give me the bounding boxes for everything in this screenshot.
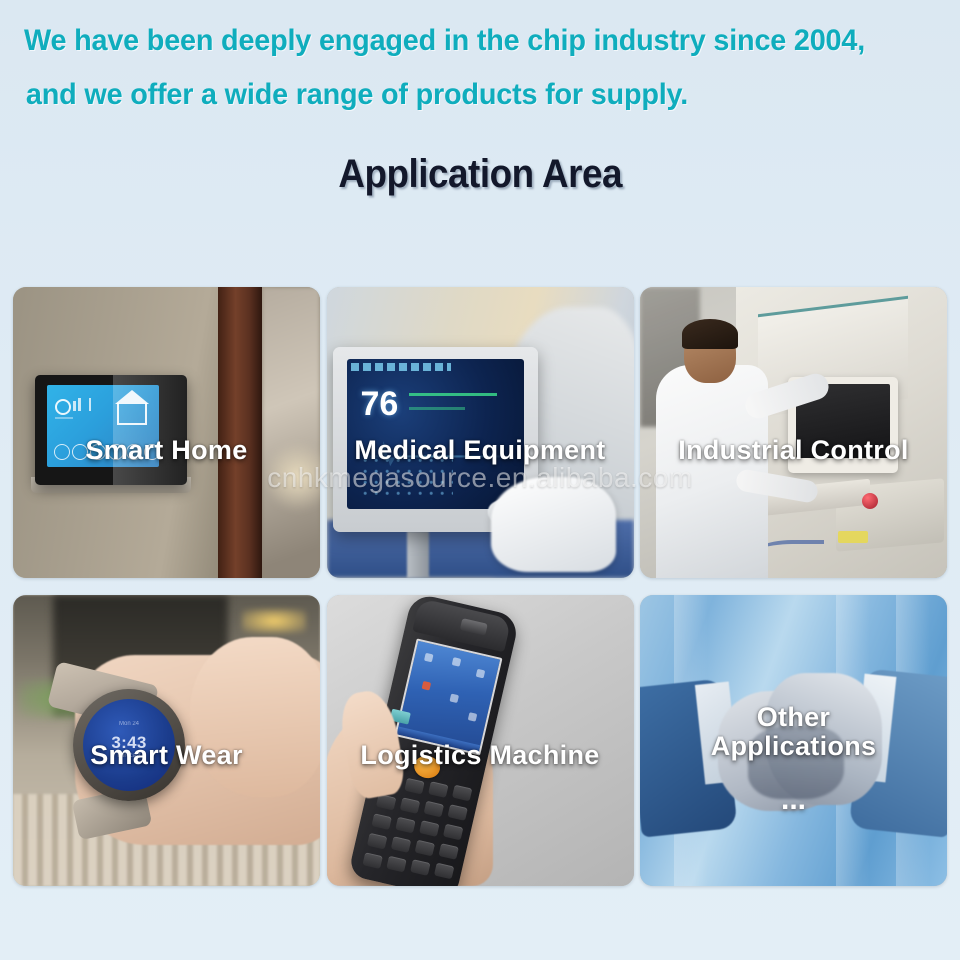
scanner-window-icon xyxy=(459,618,487,636)
keypad-key xyxy=(395,817,415,834)
technician-hair xyxy=(682,319,738,349)
keypad-key xyxy=(390,836,410,853)
smartwatch-face: Mon 24 3:43 Forecast xyxy=(83,699,175,791)
terminal-desktop-icon-4 xyxy=(421,681,431,691)
gloved-hand xyxy=(491,477,616,572)
keypad-key xyxy=(410,859,430,876)
keypad-key xyxy=(366,833,386,850)
app-icon-1 xyxy=(54,444,70,460)
keypad-key xyxy=(362,852,382,869)
hand xyxy=(190,637,320,797)
terminal-desktop-icon-6 xyxy=(467,712,477,722)
card-other-applications[interactable]: Other Applications ... xyxy=(640,595,947,886)
card-logistics-machine[interactable]: Logistics Machine xyxy=(327,595,634,886)
keypad-key xyxy=(423,801,443,818)
monitor-green-line-2 xyxy=(409,407,465,410)
app-icon-2 xyxy=(72,444,88,460)
watch-subtext: Forecast xyxy=(83,753,175,759)
terminal-screen xyxy=(394,638,502,755)
card-industrial-control[interactable]: Industrial Control xyxy=(640,287,947,578)
room-light-glow xyxy=(268,437,320,517)
keypad-key xyxy=(399,797,419,814)
application-card-grid: Smart Home 76 xyxy=(13,287,947,886)
smart-home-scene xyxy=(13,287,320,578)
card-smart-home[interactable]: Smart Home xyxy=(13,287,320,578)
monitor-top-bar xyxy=(351,363,451,371)
keypad-key xyxy=(404,778,424,795)
industrial-scene xyxy=(640,287,947,578)
keypad-key xyxy=(419,820,439,837)
keypad-key xyxy=(428,781,448,798)
background-warm-light xyxy=(242,609,306,633)
keypad-key xyxy=(386,856,406,873)
vital-value: 76 xyxy=(361,385,399,424)
watch-date: Mon 24 xyxy=(83,721,175,727)
wood-door-frame xyxy=(218,287,262,578)
widget-line-1 xyxy=(55,417,73,419)
logistics-scene xyxy=(327,595,634,886)
patient-monitor-screen: 76 xyxy=(347,359,524,509)
keypad-key xyxy=(451,785,471,802)
smartwatch-body: Mon 24 3:43 Forecast xyxy=(73,689,185,801)
keypad-key xyxy=(371,813,391,830)
terminal-desktop-icon-3 xyxy=(475,669,485,679)
terminal-desktop-icon-1 xyxy=(423,653,433,663)
widget-bar-1 xyxy=(73,401,76,411)
monitor-stand xyxy=(407,531,429,578)
smart-panel-device xyxy=(35,375,187,485)
widget-bar-2 xyxy=(78,398,81,411)
room-beyond-door xyxy=(262,287,320,578)
monitor-green-line-1 xyxy=(409,393,497,396)
terminal-desktop-icon-5 xyxy=(449,694,459,704)
section-title: Application Area xyxy=(0,152,960,197)
monitor-data-dots xyxy=(363,457,453,497)
card-label-other-dots: ... xyxy=(640,783,947,817)
card-medical-equipment[interactable]: 76 Medical Equipment xyxy=(327,287,634,578)
medical-scene: 76 xyxy=(327,287,634,578)
headline-line-1: We have been deeply engaged in the chip … xyxy=(24,14,900,68)
keypad-key xyxy=(433,863,453,880)
app-icon-3 xyxy=(90,444,106,460)
headline-line-2: and we offer a wide range of products fo… xyxy=(24,68,900,122)
keypad-key xyxy=(414,840,434,857)
headline: We have been deeply engaged in the chip … xyxy=(0,14,960,122)
watch-time: 3:43 xyxy=(83,733,175,753)
keypad-key xyxy=(447,804,467,821)
other-applications-scene xyxy=(640,595,947,886)
yellow-warning-tag xyxy=(838,531,868,543)
keypad-key xyxy=(438,843,458,860)
weather-sun-icon xyxy=(55,399,71,415)
keypad-key xyxy=(442,824,462,841)
panel-glass-reflection xyxy=(113,375,187,485)
terminal-desktop-icon-2 xyxy=(451,657,461,667)
section-title-text: Application Area xyxy=(338,152,622,197)
application-area-page: We have been deeply engaged in the chip … xyxy=(0,0,960,960)
card-smart-wear[interactable]: Mon 24 3:43 Forecast Smart Wear xyxy=(13,595,320,886)
smart-wear-scene: Mon 24 3:43 Forecast xyxy=(13,595,320,886)
emergency-stop-button xyxy=(862,493,878,509)
widget-bar-3 xyxy=(89,398,91,411)
